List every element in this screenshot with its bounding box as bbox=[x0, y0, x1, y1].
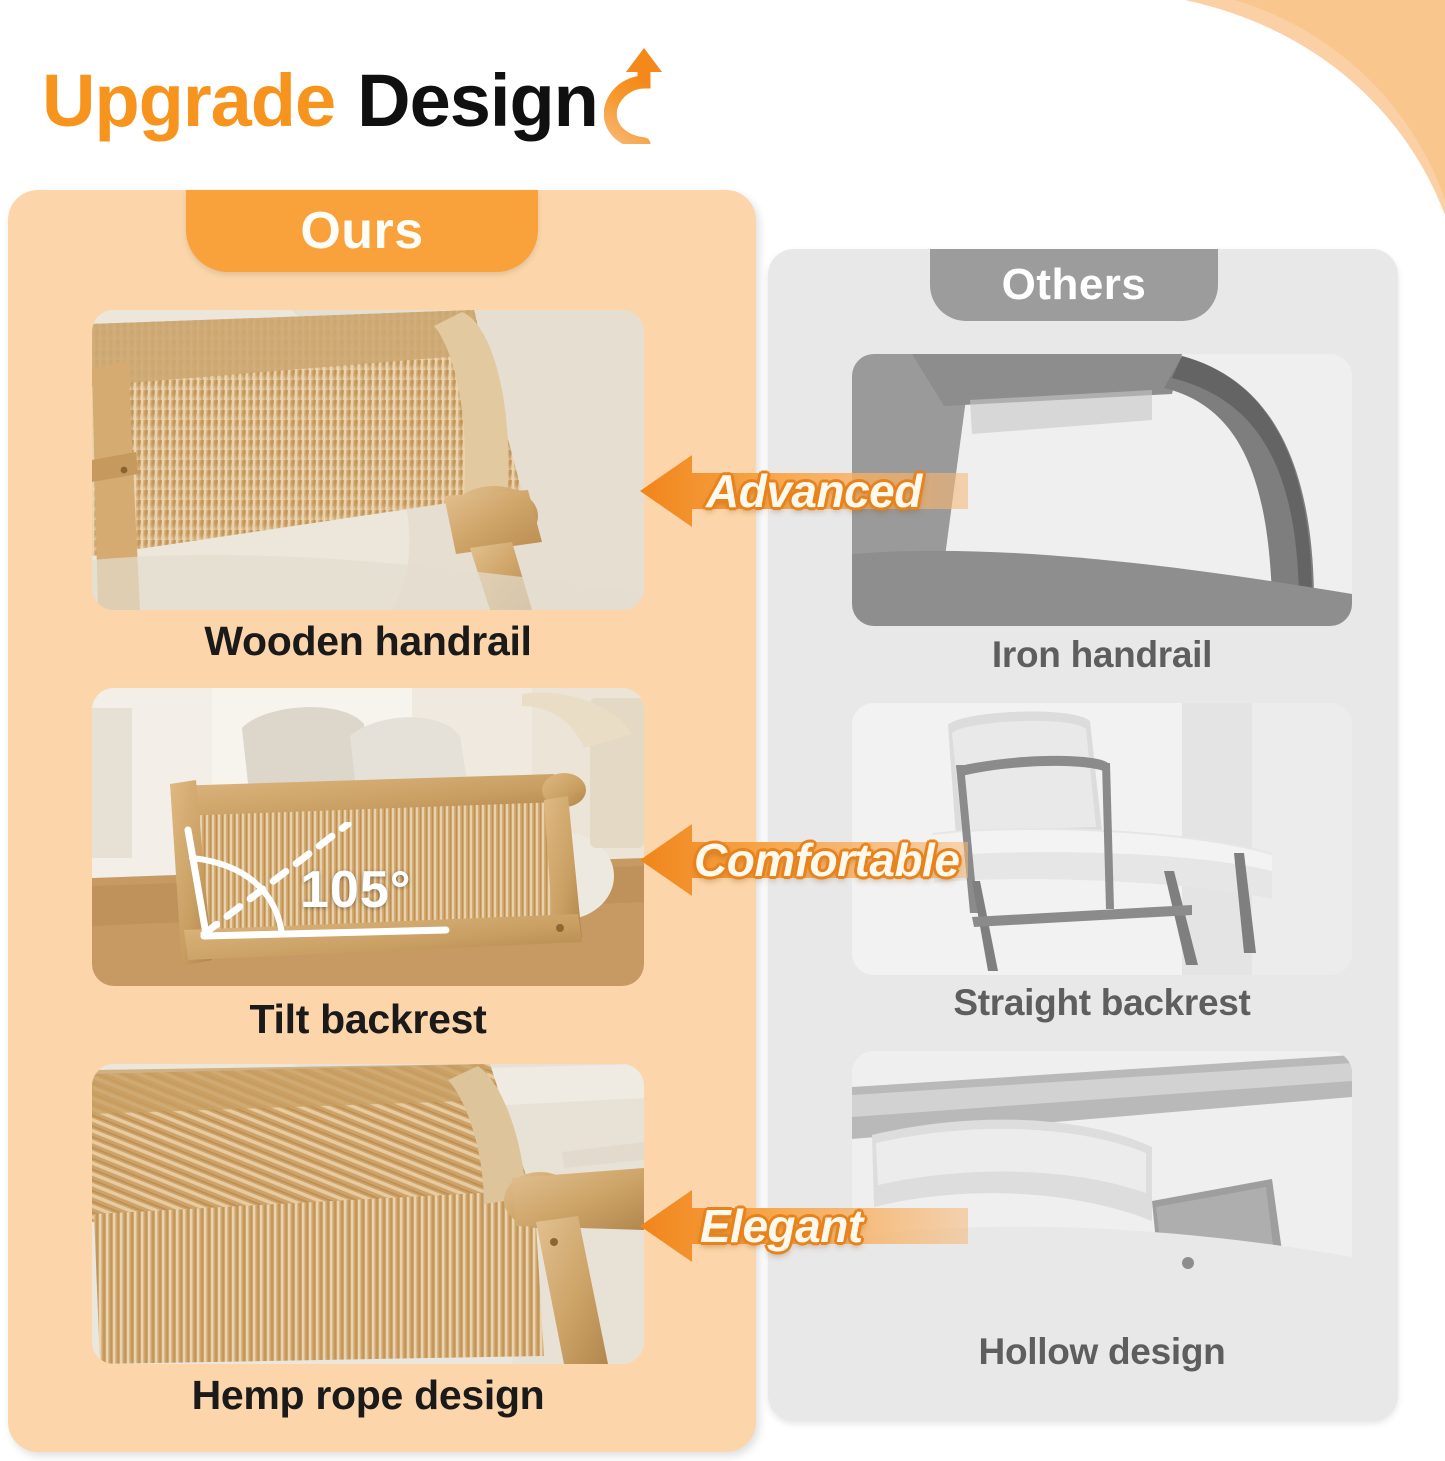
feature-arrow-label-elegant: Elegant bbox=[700, 1178, 863, 1274]
curved-up-arrow-icon bbox=[604, 48, 666, 144]
caption-others-hollow-design: Hollow design bbox=[852, 1331, 1352, 1373]
angle-value-label: 105° bbox=[300, 860, 412, 920]
ours-photo1-content bbox=[92, 310, 644, 610]
photo-others-hollow-design bbox=[852, 1051, 1352, 1323]
corner-decoration-swoosh bbox=[1085, 0, 1445, 215]
ours-badge: Ours bbox=[186, 190, 538, 272]
caption-ours-wooden-handrail: Wooden handrail bbox=[92, 618, 644, 665]
others-badge-label: Others bbox=[1002, 260, 1147, 310]
caption-ours-hemp-rope: Hemp rope design bbox=[92, 1372, 644, 1419]
caption-others-straight-backrest: Straight backrest bbox=[852, 982, 1352, 1024]
feature-arrow-label-advanced: Advanced bbox=[706, 443, 922, 539]
photo-ours-hemp-rope bbox=[92, 1064, 644, 1364]
others-badge: Others bbox=[930, 249, 1218, 321]
angle-number: 105 bbox=[300, 861, 390, 919]
title-word-upgrade: Upgrade bbox=[42, 66, 335, 136]
ours-photo3-content bbox=[92, 1064, 644, 1364]
caption-ours-tilt-backrest: Tilt backrest bbox=[92, 996, 644, 1043]
feature-arrow-label-comfortable: Comfortable bbox=[694, 812, 959, 908]
caption-others-iron-handrail: Iron handrail bbox=[852, 634, 1352, 676]
photo-others-iron-handrail bbox=[852, 354, 1352, 626]
photo-ours-wooden-handrail bbox=[92, 310, 644, 610]
angle-degree-symbol: ° bbox=[390, 861, 412, 919]
title-word-design: Design bbox=[357, 66, 598, 136]
page-title: Upgrade Design bbox=[42, 44, 666, 136]
ours-badge-label: Ours bbox=[300, 201, 423, 261]
others-photo1-content bbox=[852, 354, 1352, 626]
others-photo3-content bbox=[852, 1051, 1352, 1323]
